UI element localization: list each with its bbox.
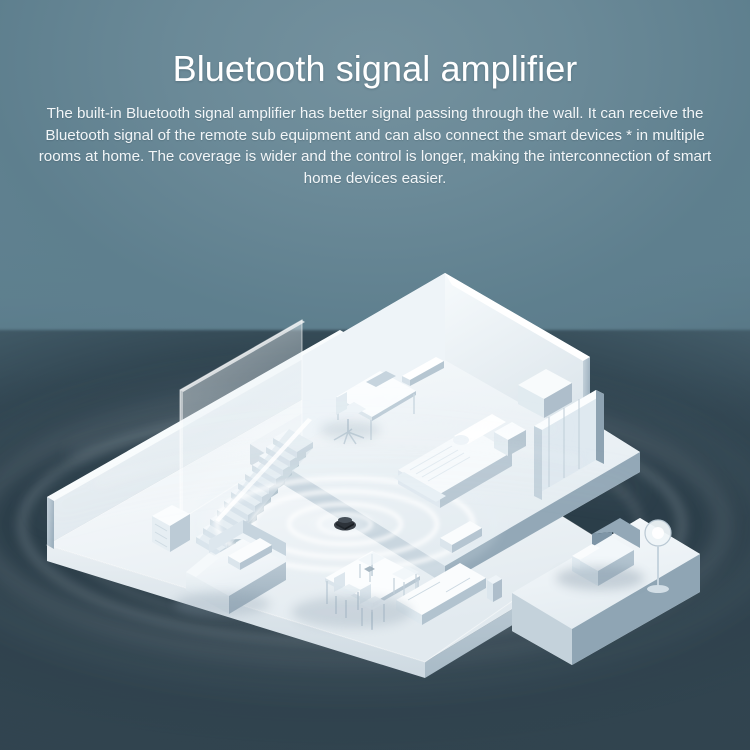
header: Bluetooth signal amplifier The built-in … [0, 0, 750, 189]
page-title: Bluetooth signal amplifier [0, 48, 750, 89]
product-feature-page: Bluetooth signal amplifier The built-in … [0, 0, 750, 750]
description-paragraph: The built-in Bluetooth signal amplifier … [25, 103, 725, 189]
